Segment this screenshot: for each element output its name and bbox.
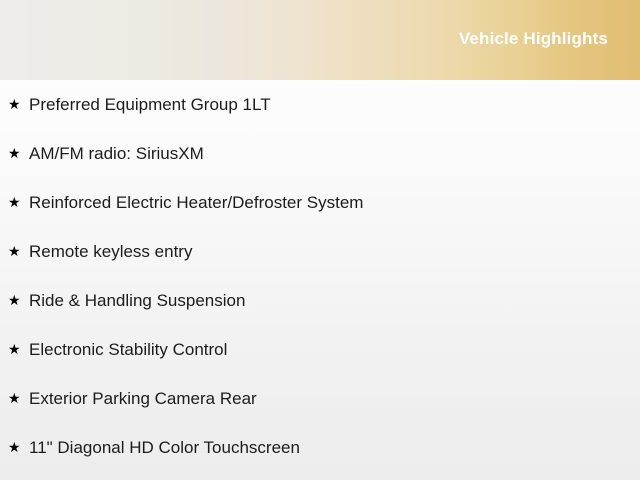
list-item: ★ Reinforced Electric Heater/Defroster S…	[0, 178, 640, 227]
vehicle-highlights-panel: Vehicle Highlights ★ Preferred Equipment…	[0, 0, 640, 480]
list-item: ★ 11" Diagonal HD Color Touchscreen	[0, 423, 640, 472]
list-item-label: AM/FM radio: SiriusXM	[29, 144, 204, 163]
list-item-label: Exterior Parking Camera Rear	[29, 389, 257, 408]
list-item-label: Ride & Handling Suspension	[29, 291, 245, 310]
list-item-label: Preferred Equipment Group 1LT	[29, 95, 271, 114]
list-item: ★ AM/FM radio: SiriusXM	[0, 129, 640, 178]
list-item-label: Remote keyless entry	[29, 242, 192, 261]
star-icon: ★	[8, 129, 22, 178]
list-item-label: Electronic Stability Control	[29, 340, 227, 359]
star-icon: ★	[8, 178, 22, 227]
star-icon: ★	[8, 325, 22, 374]
list-item: ★ Exterior Parking Camera Rear	[0, 374, 640, 423]
vehicle-highlights-list: ★ Preferred Equipment Group 1LT ★ AM/FM …	[0, 80, 640, 472]
star-icon: ★	[8, 423, 22, 472]
list-item: ★ Electronic Stability Control	[0, 325, 640, 374]
list-item: ★ Ride & Handling Suspension	[0, 276, 640, 325]
panel-header: Vehicle Highlights	[0, 0, 640, 80]
list-item-label: 11" Diagonal HD Color Touchscreen	[29, 438, 300, 457]
star-icon: ★	[8, 227, 22, 276]
star-icon: ★	[8, 374, 22, 423]
page-title: Vehicle Highlights	[459, 29, 608, 49]
star-icon: ★	[8, 276, 22, 325]
list-item: ★ Preferred Equipment Group 1LT	[0, 80, 640, 129]
list-item: ★ Remote keyless entry	[0, 227, 640, 276]
star-icon: ★	[8, 80, 22, 129]
list-item-label: Reinforced Electric Heater/Defroster Sys…	[29, 193, 363, 212]
